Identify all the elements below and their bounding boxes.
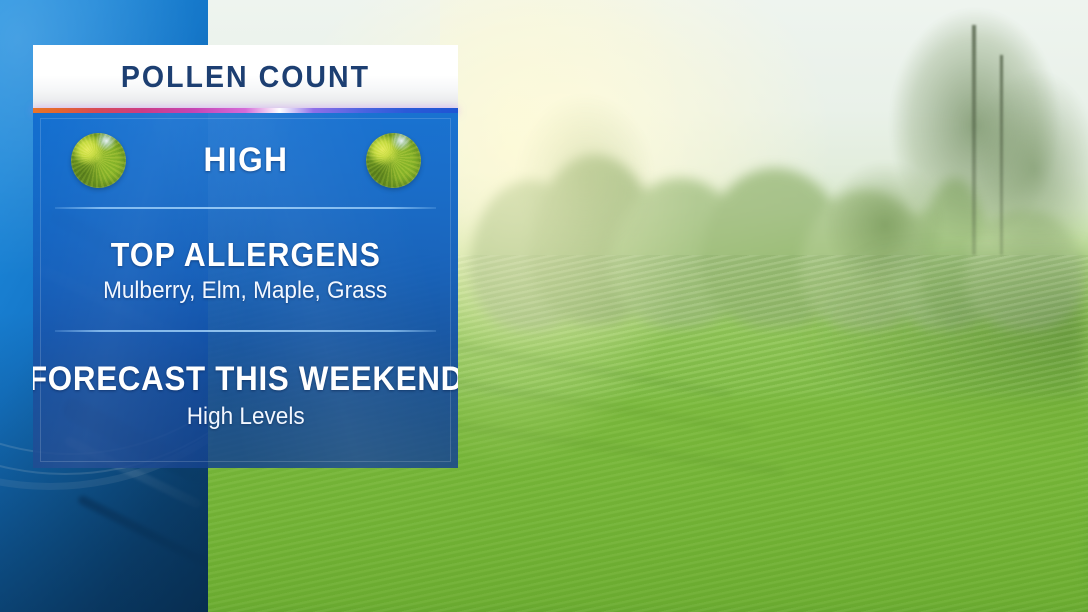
tree-trunk-right-2 <box>1000 55 1003 255</box>
divider-2 <box>55 330 436 332</box>
tree-trunk-right <box>972 25 976 255</box>
pollen-count-panel: POLLEN COUNT HIGH TOP ALLERGENS Mulberry… <box>33 45 458 468</box>
page-title: POLLEN COUNT <box>121 59 370 95</box>
panel-body: HIGH TOP ALLERGENS Mulberry, Elm, Maple,… <box>33 113 458 468</box>
tree-foliage-icon <box>71 133 126 188</box>
weekend-forecast-row: FORECAST THIS WEEKEND High Levels <box>33 333 458 458</box>
weekend-forecast-heading: FORECAST THIS WEEKEND <box>33 360 458 399</box>
tree-foliage-icon <box>366 133 421 188</box>
pollen-level-value: HIGH <box>190 141 302 180</box>
top-allergens-heading: TOP ALLERGENS <box>110 236 380 274</box>
weather-graphic-stage: POLLEN COUNT HIGH TOP ALLERGENS Mulberry… <box>0 0 1088 612</box>
weekend-forecast-value: High Levels <box>187 403 305 431</box>
pollen-level-row: HIGH <box>33 113 458 207</box>
top-allergens-row: TOP ALLERGENS Mulberry, Elm, Maple, Gras… <box>33 209 458 331</box>
top-allergens-value: Mulberry, Elm, Maple, Grass <box>103 277 387 305</box>
panel-title-bar: POLLEN COUNT <box>33 45 458 108</box>
